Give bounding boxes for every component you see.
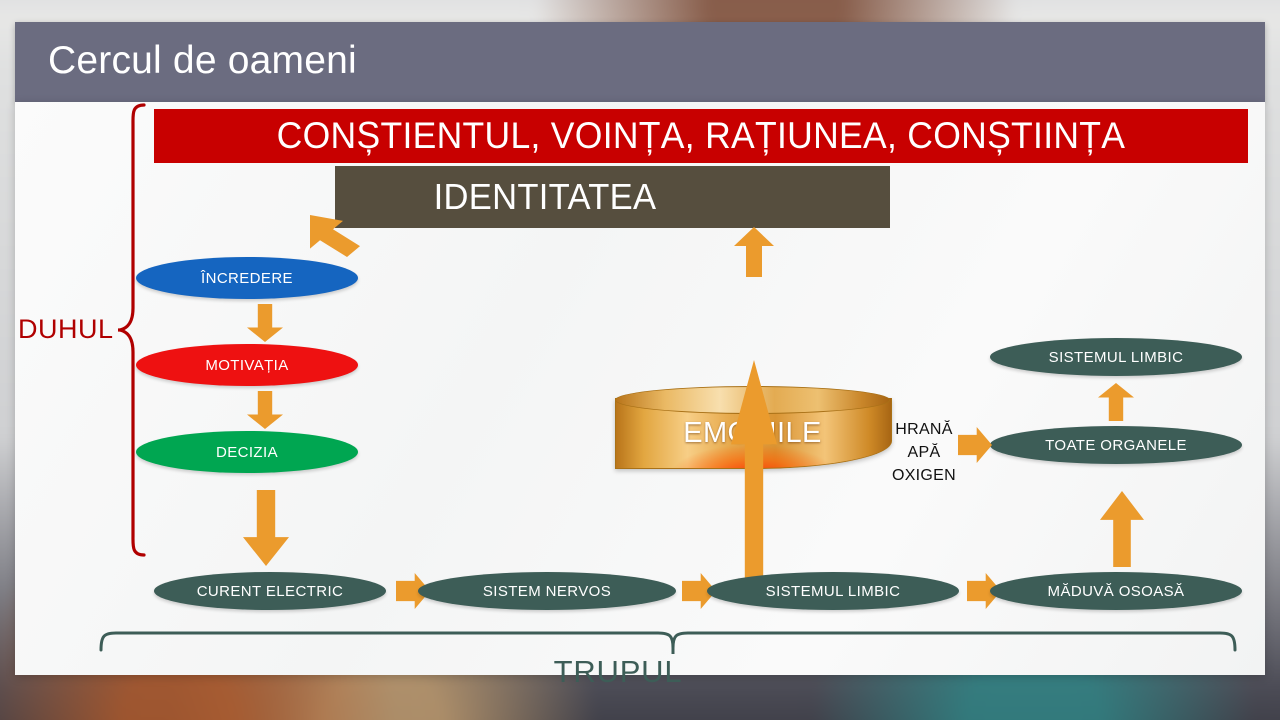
node-curent-electric[interactable]: CURENT ELECTRIC — [154, 572, 386, 610]
node-sistemul-limbic-right-label: SISTEMUL LIMBIC — [1049, 349, 1184, 366]
node-sistem-nervos-label: SISTEM NERVOS — [483, 583, 611, 600]
node-toate-organele[interactable]: TOATE ORGANELE — [990, 426, 1242, 464]
node-motivatia-label: MOTIVAȚIA — [205, 357, 288, 374]
node-sistemul-limbic-right[interactable]: SISTEMUL LIMBIC — [990, 338, 1242, 376]
arrow-up-emotions-to-identity-icon — [734, 227, 774, 277]
node-sistemul-limbic-bottom[interactable]: SISTEMUL LIMBIC — [707, 572, 959, 610]
node-curent-electric-label: CURENT ELECTRIC — [197, 583, 344, 600]
banner-consciousness-label: CONȘTIENTUL, VOINȚA, RAȚIUNEA, CONȘTIINȚ… — [277, 115, 1126, 157]
banner-consciousness: CONȘTIENTUL, VOINȚA, RAȚIUNEA, CONȘTIINȚ… — [154, 109, 1248, 163]
nutrition-line-2: APĂ — [883, 441, 965, 464]
node-motivatia[interactable]: MOTIVAȚIA — [136, 344, 358, 386]
slide-header-bar: Cercul de oameni — [15, 22, 1265, 102]
arrow-down-incredere-motivatia-icon — [247, 304, 283, 342]
node-incredere-label: ÎNCREDERE — [201, 270, 293, 287]
nutrition-line-1: HRANĂ — [883, 418, 965, 441]
arrow-up-maduva-to-organe-icon — [1100, 491, 1144, 567]
slide-stage: Cercul de oameni CONȘTIENTUL, VOINȚA, RA… — [0, 0, 1280, 720]
node-maduva-osoasa-label: MĂDUVĂ OSOASĂ — [1048, 583, 1185, 600]
arrow-down-decizia-curent-icon — [243, 490, 289, 566]
node-decizia-label: DECIZIA — [216, 444, 278, 461]
bracket-duhul — [118, 102, 154, 558]
banner-identity: IDENTITATEA — [335, 166, 890, 228]
slide-canvas: CONȘTIENTUL, VOINȚA, RAȚIUNEA, CONȘTIINȚ… — [15, 102, 1265, 675]
arrow-down-motivatia-decizia-icon — [247, 391, 283, 429]
node-toate-organele-label: TOATE ORGANELE — [1045, 437, 1187, 454]
nutrition-inputs: HRANĂ APĂ OXIGEN — [883, 418, 965, 488]
bracket-trupul-label: TRUPUL — [0, 654, 1258, 690]
bracket-trupul — [98, 620, 1238, 654]
node-decizia[interactable]: DECIZIA — [136, 431, 358, 473]
node-incredere[interactable]: ÎNCREDERE — [136, 257, 358, 299]
node-sistemul-limbic-bottom-label: SISTEMUL LIMBIC — [766, 583, 901, 600]
page-title: Cercul de oameni — [48, 39, 357, 83]
nutrition-line-3: OXIGEN — [883, 464, 965, 487]
banner-identity-label: IDENTITATEA — [433, 176, 656, 218]
arrow-up-organe-to-limbic-icon — [1098, 383, 1134, 421]
bracket-duhul-label: DUHUL — [18, 314, 114, 345]
node-sistem-nervos[interactable]: SISTEM NERVOS — [418, 572, 676, 610]
node-maduva-osoasa[interactable]: MĂDUVĂ OSOASĂ — [990, 572, 1242, 610]
